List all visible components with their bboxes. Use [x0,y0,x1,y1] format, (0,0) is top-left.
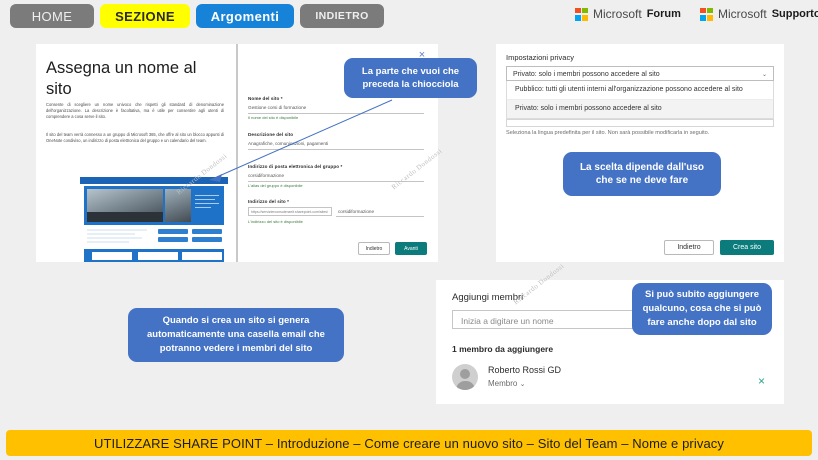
member-search-placeholder: Inizia a digitare un nome [461,316,554,326]
field-hint-site-address: L'indirizzo del sito è disponibile [248,219,303,224]
field-label-site-address: Indirizzo del sito * [248,199,289,204]
callout-aggiungere: Si può subito aggiungere qualcuno, cosa … [632,283,772,335]
privacy-select[interactable]: Privato: solo i membri possono accedere … [506,66,774,81]
privacy-option-label: Privato: solo i membri possono accedere … [515,105,662,112]
callout-arrow [196,96,396,188]
callout-scelta: La scelta dipende dall'uso che se ne dev… [563,152,721,196]
privacy-selected-value: Privato: solo i membri possono accedere … [513,71,660,78]
form-back-button[interactable]: Indietro [358,242,390,255]
field-value-site-address[interactable]: corsidiformazione [338,209,374,214]
card-title: Assegna un nome al sito [46,58,221,100]
sharepoint-preview-thumbnail [80,177,228,262]
microsoft-forum-link[interactable]: Microsoft Forum [575,7,681,21]
remove-member-icon[interactable]: × [758,374,765,388]
privacy-back-button[interactable]: Indietro [664,240,714,255]
footer-banner: UTILIZZARE SHARE POINT – Introduzione – … [6,430,812,456]
privacy-option-public[interactable]: Pubblico: tutti gli utenti interni all'o… [506,81,774,100]
nav-button-home[interactable]: HOME [10,4,94,28]
privacy-field-label: Impostazioni privacy [506,53,574,62]
site-address-prefix-text: https://servizierconsulenzeit.sharepoint… [251,210,328,214]
chevron-down-icon: ⌄ [762,71,767,78]
microsoft-wordmark: Microsoft [718,7,767,21]
microsoft-logo-icon [575,8,588,21]
top-navigation: HOME SEZIONE Argomenti INDIETRO Microsof… [0,0,818,34]
nav-button-argomenti[interactable]: Argomenti [196,4,294,28]
forum-label: Forum [647,8,681,20]
member-name: Roberto Rossi GD [488,365,561,375]
privacy-option-private[interactable]: Privato: solo i membri possono accedere … [506,100,774,119]
form-next-button[interactable]: Avanti [395,242,427,255]
callout-casella-email: Quando si crea un sito si genera automat… [128,308,344,362]
language-select[interactable] [506,119,774,127]
slide-canvas: HOME SEZIONE Argomenti INDIETRO Microsof… [0,0,818,460]
avatar [452,364,478,390]
privacy-option-label: Pubblico: tutti gli utenti interni all'o… [515,86,743,93]
microsoft-supporto-link[interactable]: Microsoft Supporto [700,7,818,21]
nav-button-indietro[interactable]: INDIETRO [300,4,384,28]
language-hint-text: Seleziona la lingua predefinita per il s… [506,130,709,136]
field-prefix-site-address: https://servizierconsulenzeit.sharepoint… [248,207,332,216]
supporto-label: Supporto [772,8,818,20]
member-role[interactable]: Membro ⌄ [488,379,525,388]
member-role-label: Membro [488,379,517,388]
chevron-down-icon: ⌄ [520,381,526,388]
create-site-button[interactable]: Crea sito [720,240,774,255]
callout-chiocciola: La parte che vuoi che preceda la chiocci… [344,58,477,98]
nav-button-sezione[interactable]: SEZIONE [100,4,190,28]
members-count-label: 1 membro da aggiungere [452,344,553,354]
microsoft-logo-icon [700,8,713,21]
microsoft-wordmark: Microsoft [593,7,642,21]
